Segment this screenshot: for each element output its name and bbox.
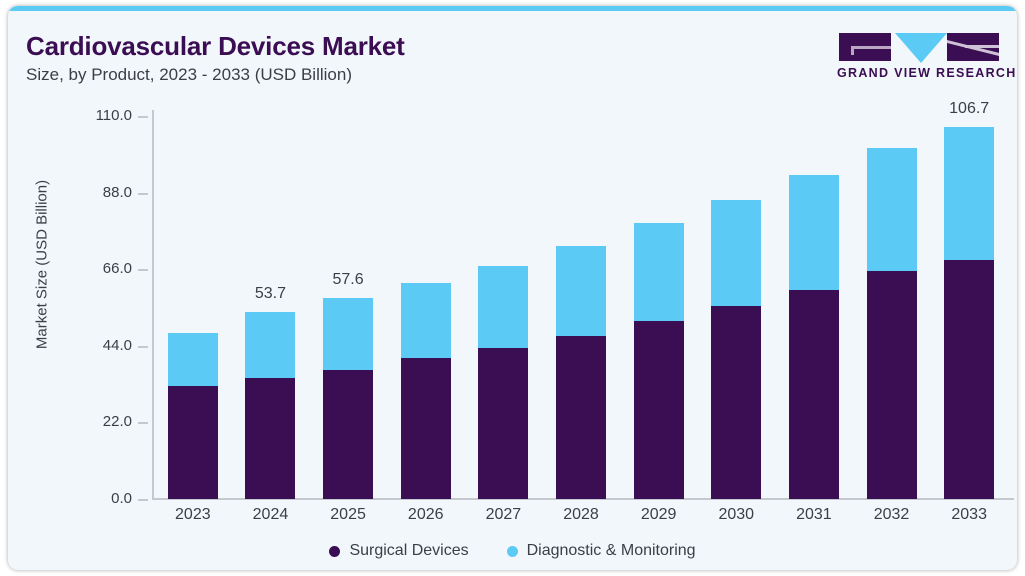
bar-segment-surgical-devices[interactable] bbox=[634, 321, 684, 499]
bar-value-label: 57.6 bbox=[288, 271, 408, 289]
y-axis-tick-mark bbox=[138, 499, 148, 501]
legend-item[interactable]: Surgical Devices bbox=[329, 542, 468, 560]
y-axis-tick-mark bbox=[138, 116, 148, 118]
bar-group[interactable] bbox=[634, 223, 684, 499]
bar-group[interactable] bbox=[168, 333, 218, 499]
bar-segment-surgical-devices[interactable] bbox=[168, 386, 218, 499]
bar-group[interactable] bbox=[245, 312, 295, 499]
bar-segment-surgical-devices[interactable] bbox=[245, 378, 295, 499]
bar-group[interactable] bbox=[478, 266, 528, 499]
bar-group[interactable] bbox=[944, 127, 994, 499]
chart-card: Cardiovascular Devices Market Size, by P… bbox=[8, 6, 1017, 570]
bar-segment-surgical-devices[interactable] bbox=[556, 336, 606, 499]
bar-segment-diagnostic-monitoring[interactable] bbox=[867, 148, 917, 271]
bar-segment-diagnostic-monitoring[interactable] bbox=[634, 223, 684, 322]
y-axis-tick-label: 66.0 bbox=[28, 260, 132, 277]
bar-group[interactable] bbox=[323, 298, 373, 499]
bar-segment-diagnostic-monitoring[interactable] bbox=[789, 175, 839, 290]
chart-plot: Market Size (USD Billion) 0.022.044.066.… bbox=[8, 6, 1017, 570]
bar-segment-surgical-devices[interactable] bbox=[711, 306, 761, 499]
bar-segment-surgical-devices[interactable] bbox=[323, 370, 373, 499]
bar-segment-diagnostic-monitoring[interactable] bbox=[711, 200, 761, 307]
legend-label: Surgical Devices bbox=[349, 542, 468, 560]
bar-group[interactable] bbox=[556, 246, 606, 499]
x-axis-tick-label: 2033 bbox=[909, 506, 1017, 524]
y-axis-tick-mark bbox=[138, 193, 148, 195]
bar-segment-diagnostic-monitoring[interactable] bbox=[401, 283, 451, 358]
y-axis-tick-mark bbox=[138, 422, 148, 424]
bar-group[interactable] bbox=[401, 283, 451, 499]
bar-segment-diagnostic-monitoring[interactable] bbox=[556, 246, 606, 336]
bar-segment-surgical-devices[interactable] bbox=[789, 290, 839, 499]
y-axis-tick-mark bbox=[138, 346, 148, 348]
chart-legend: Surgical DevicesDiagnostic & Monitoring bbox=[8, 542, 1017, 560]
bar-segment-surgical-devices[interactable] bbox=[944, 260, 994, 499]
legend-item[interactable]: Diagnostic & Monitoring bbox=[507, 542, 696, 560]
bar-group[interactable] bbox=[711, 200, 761, 499]
legend-swatch-icon bbox=[507, 546, 518, 557]
legend-swatch-icon bbox=[329, 546, 340, 557]
y-axis-tick-label: 44.0 bbox=[28, 337, 132, 354]
y-axis-tick-label: 110.0 bbox=[28, 107, 132, 124]
bar-segment-surgical-devices[interactable] bbox=[478, 348, 528, 499]
y-axis-tick-label: 88.0 bbox=[28, 184, 132, 201]
bar-group[interactable] bbox=[789, 175, 839, 499]
bar-group[interactable] bbox=[867, 148, 917, 499]
y-axis-tick-mark bbox=[138, 269, 148, 271]
y-axis-tick-label: 0.0 bbox=[28, 490, 132, 507]
bar-segment-surgical-devices[interactable] bbox=[401, 358, 451, 499]
bar-segment-diagnostic-monitoring[interactable] bbox=[944, 127, 994, 260]
y-axis-line bbox=[152, 110, 154, 499]
bar-segment-diagnostic-monitoring[interactable] bbox=[245, 312, 295, 378]
bar-segment-diagnostic-monitoring[interactable] bbox=[323, 298, 373, 370]
bar-segment-diagnostic-monitoring[interactable] bbox=[478, 266, 528, 348]
y-axis-tick-label: 22.0 bbox=[28, 413, 132, 430]
bar-segment-diagnostic-monitoring[interactable] bbox=[168, 333, 218, 386]
legend-label: Diagnostic & Monitoring bbox=[527, 542, 696, 560]
bar-segment-surgical-devices[interactable] bbox=[867, 271, 917, 499]
bar-value-label: 106.7 bbox=[909, 100, 1017, 118]
